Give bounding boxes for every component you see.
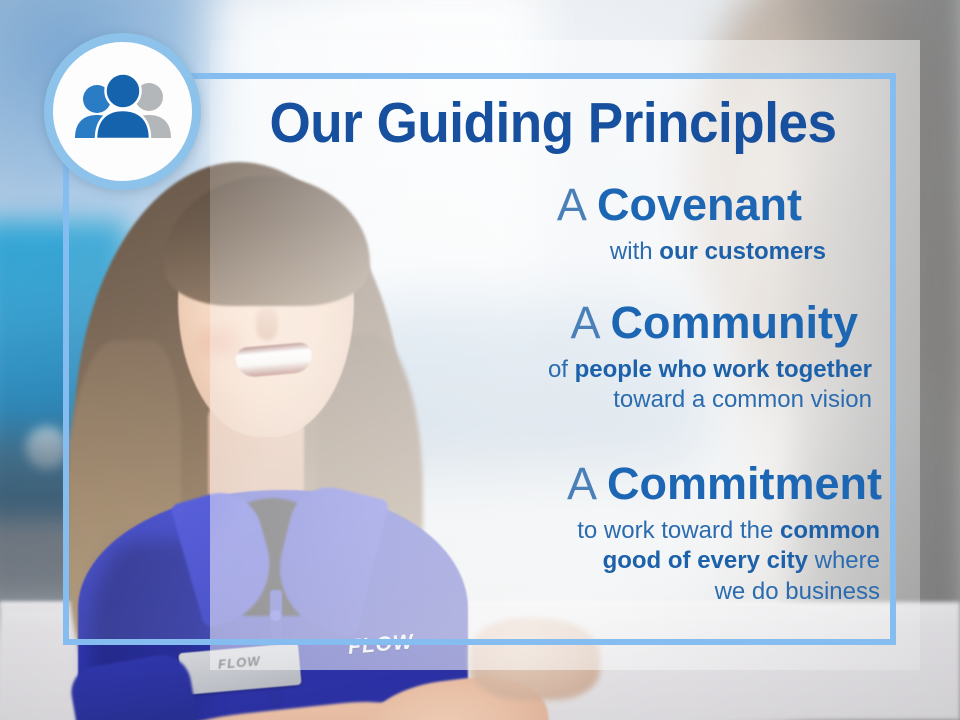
principle-name: Community <box>611 297 859 348</box>
principle-covenant: A Covenant with our customers <box>216 181 896 267</box>
principle-subtext-line: we do business <box>216 577 880 608</box>
principle-name: Commitment <box>607 458 882 509</box>
principle-community: A Community of people who work togethert… <box>216 299 896 416</box>
subtext-emphasis: people who work together <box>575 356 872 383</box>
principle-subtext-line: toward a common vision <box>216 385 872 416</box>
name-badge-text: FLOW <box>179 650 300 675</box>
principle-subtext-line: with our customers <box>216 237 826 268</box>
principle-heading: A Commitment <box>216 460 882 509</box>
subtext-run: of <box>548 356 575 383</box>
principle-subtext-line: of people who work together <box>216 355 872 386</box>
principle-heading: A Covenant <box>216 181 882 230</box>
subtext-run: with <box>610 238 659 265</box>
subtext-emphasis: common <box>780 517 880 544</box>
principle-subtext-line: good of every city where <box>216 546 880 577</box>
people-group-icon <box>69 72 177 152</box>
principle-commitment: A Commitment to work toward the commongo… <box>216 460 896 608</box>
subtext-run: toward a common vision <box>613 386 872 413</box>
subtext-run: we do business <box>715 578 880 605</box>
subtext-emphasis: our customers <box>659 238 826 265</box>
guiding-principles-graphic: FLOW FLOW <box>0 0 960 720</box>
principle-article: A <box>567 458 607 509</box>
principle-subtext: with our customers <box>216 237 882 268</box>
people-badge <box>44 33 201 190</box>
principle-subtext-line: to work toward the common <box>216 516 880 547</box>
principle-article: A <box>570 297 610 348</box>
page-title: Our Guiding Principles <box>240 95 867 152</box>
principle-heading: A Community <box>216 299 882 348</box>
principle-article: A <box>557 179 597 230</box>
text-panel: Our Guiding Principles A Covenant with o… <box>216 73 896 645</box>
subtext-run: to work toward the <box>577 517 780 544</box>
principle-subtext: of people who work togethertoward a comm… <box>216 355 882 416</box>
subtext-emphasis: good of every city <box>603 547 808 574</box>
subtext-run: where <box>808 547 880 574</box>
principle-name: Covenant <box>597 179 802 230</box>
principle-subtext: to work toward the commongood of every c… <box>216 516 882 608</box>
